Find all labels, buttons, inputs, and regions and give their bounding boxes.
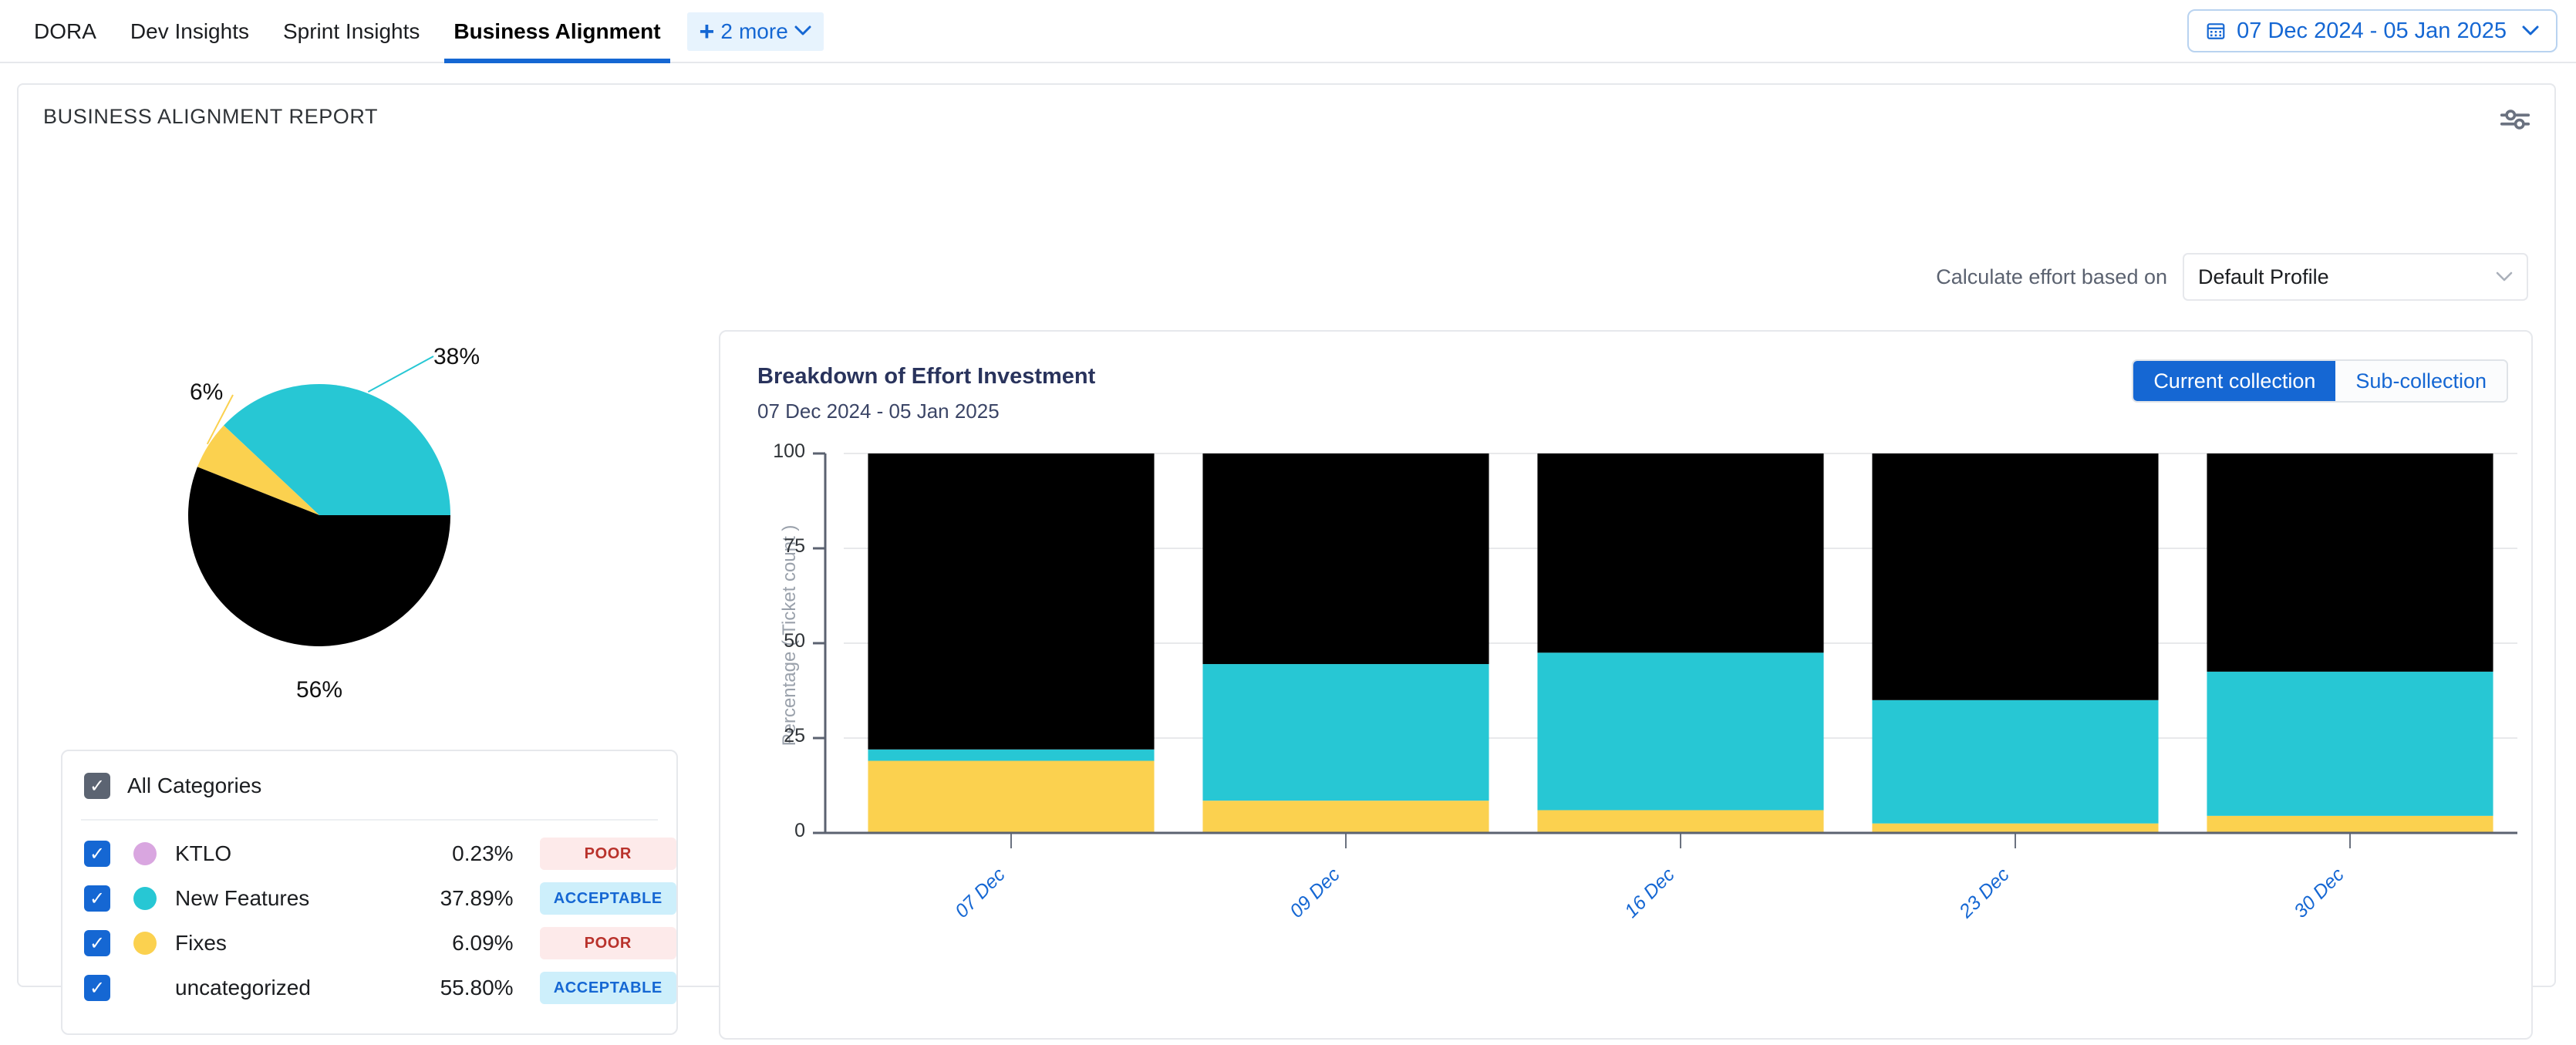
bar-segment [1537,453,1823,652]
chevron-down-icon [2522,21,2539,41]
bar-segment [868,761,1154,833]
legend-category-percent: 55.80% [383,976,513,1000]
stacked-bar-plot: Percentage ( Ticket count ) 0255075100 0… [720,332,2534,1041]
bar-segment [1872,824,2158,833]
pie-svg [42,308,682,717]
tab-label: DORA [34,19,96,44]
bar-segment [1872,700,2158,824]
y-axis-tick-label: 50 [728,630,805,652]
tab-label: Business Alignment [453,19,660,44]
effort-profile-value: Default Profile [2198,265,2329,289]
pie-slice-label-new-features: 38% [433,344,480,370]
legend-row[interactable]: ✓Fixes6.09%POOR [62,921,676,966]
effort-profile-label: Calculate effort based on [1936,265,2167,289]
all-categories-label: All Categories [127,774,261,798]
y-axis-tick-label: 25 [728,725,805,747]
status-badge: ACCEPTABLE [540,972,676,1004]
tab-list: DORA Dev Insights Sprint Insights Busine… [17,0,824,63]
y-axis-tick-label: 100 [728,440,805,463]
pie-slice-label-uncategorized: 56% [296,677,342,703]
tab-label: Dev Insights [130,19,249,44]
legend-row-checkbox[interactable]: ✓ [84,930,110,956]
calendar-icon [2206,21,2226,41]
bar-segment [2207,816,2493,833]
date-range-value: 07 Dec 2024 - 05 Jan 2025 [2237,19,2507,44]
legend-category-percent: 6.09% [383,931,513,956]
bar-segment [868,750,1154,761]
bar-segment [1872,453,2158,700]
sliders-icon[interactable] [2497,102,2533,137]
top-tab-bar: DORA Dev Insights Sprint Insights Busine… [0,0,2576,63]
legend-category-percent: 37.89% [383,886,513,911]
more-count: 2 [720,19,733,44]
all-categories-checkbox[interactable]: ✓ [84,773,110,799]
bar-segment [2207,672,2493,816]
breakdown-of-effort-investment-card: Breakdown of Effort Investment 07 Dec 20… [719,330,2533,1040]
legend-category-name: KTLO [175,841,383,866]
legend-color-dot [133,932,157,955]
bar-segment [1537,652,1823,810]
legend-category-name: uncategorized [175,976,383,1000]
legend-row-checkbox[interactable]: ✓ [84,885,110,912]
legend-all-categories-row[interactable]: ✓ All Categories [62,751,676,819]
pie-leader-line [368,356,433,392]
effort-distribution-pie-chart: 38% 6% 56% [42,308,682,717]
legend-category-percent: 0.23% [383,841,513,866]
legend-row-checkbox[interactable]: ✓ [84,975,110,1001]
y-axis-tick-label: 75 [728,535,805,558]
business-alignment-report-card: BUSINESS ALIGNMENT REPORT Calculate effo… [17,83,2556,987]
status-badge: POOR [540,838,676,870]
date-range-picker[interactable]: 07 Dec 2024 - 05 Jan 2025 [2187,9,2557,52]
more-tabs-button[interactable]: + 2 more [687,12,824,51]
tab-dev-insights[interactable]: Dev Insights [113,0,266,63]
legend-row-list: ✓KTLO0.23%POOR✓New Features37.89%ACCEPTA… [62,821,676,1010]
legend-color-dot [133,842,157,865]
chevron-down-icon [794,23,811,41]
legend-category-name: Fixes [175,931,383,956]
bar-segment [1202,453,1489,664]
legend-row[interactable]: ✓New Features37.89%ACCEPTABLE [62,876,676,921]
bar-segment [1202,664,1489,801]
pie-slice-label-fixes: 6% [190,379,223,406]
tab-dora[interactable]: DORA [17,0,113,63]
category-legend-panel: ✓ All Categories ✓KTLO0.23%POOR✓New Feat… [61,750,678,1035]
chevron-down-icon [2496,267,2513,287]
status-badge: ACCEPTABLE [540,882,676,915]
effort-profile-select[interactable]: Default Profile [2183,253,2528,301]
legend-row[interactable]: ✓KTLO0.23%POOR [62,831,676,876]
legend-row[interactable]: ✓uncategorized55.80%ACCEPTABLE [62,966,676,1010]
bar-svg [720,332,2534,1041]
tab-sprint-insights[interactable]: Sprint Insights [266,0,437,63]
tab-label: Sprint Insights [283,19,420,44]
plus-icon: + [700,19,715,45]
bar-segment [868,453,1154,750]
status-badge: POOR [540,927,676,959]
y-axis-tick-label: 0 [728,820,805,842]
legend-row-checkbox[interactable]: ✓ [84,841,110,867]
tab-business-alignment[interactable]: Business Alignment [437,0,677,63]
legend-color-dot [133,887,157,910]
bar-segment [1537,810,1823,833]
effort-profile-row: Calculate effort based on Default Profil… [1936,253,2528,301]
bar-segment [2207,453,2493,672]
bar-segment [1202,801,1489,833]
legend-category-name: New Features [175,886,383,911]
more-label: more [739,19,788,44]
page-title: BUSINESS ALIGNMENT REPORT [43,105,378,129]
